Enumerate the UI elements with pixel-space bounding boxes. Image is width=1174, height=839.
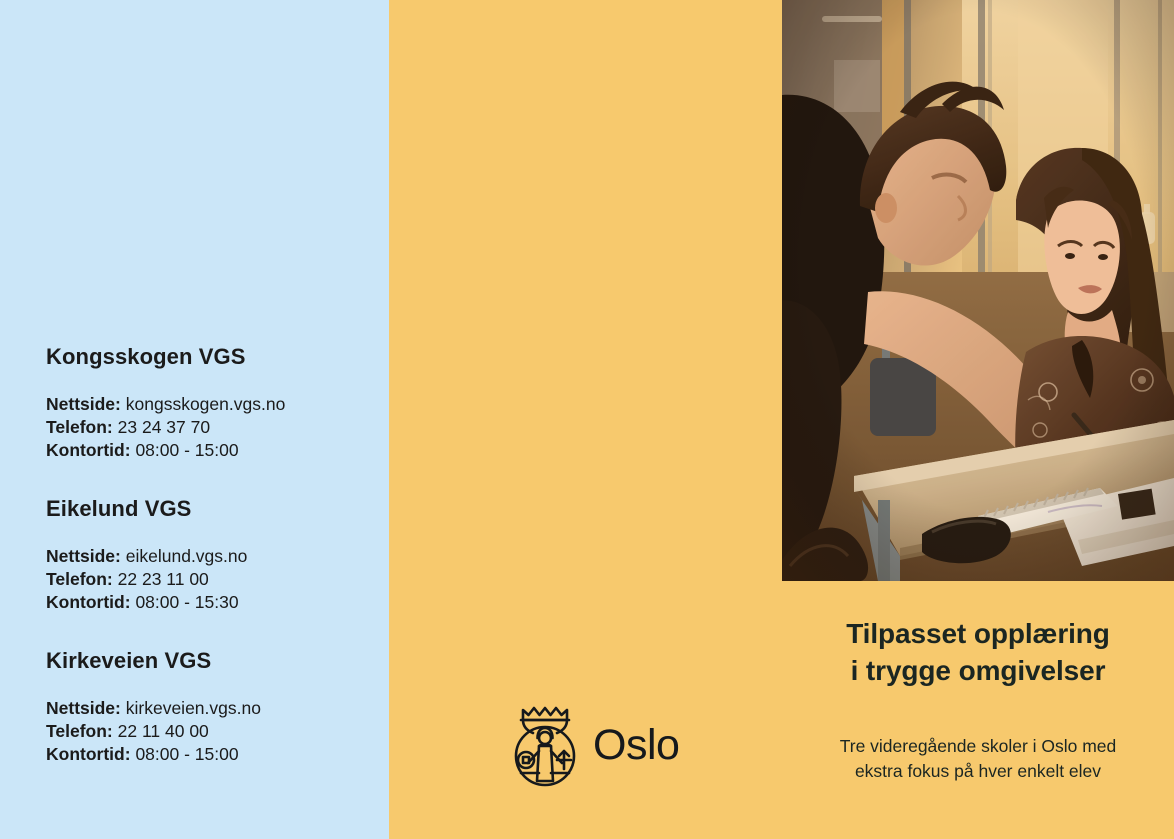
contact-row: Kontortid: 08:00 - 15:00	[46, 743, 376, 766]
contact-value-website[interactable]: eikelund.vgs.no	[126, 546, 248, 566]
contact-value-phone: 22 11 40 00	[118, 721, 209, 741]
contact-value-phone: 22 23 11 00	[118, 569, 209, 589]
contact-label: Nettside:	[46, 546, 121, 566]
contact-label: Nettside:	[46, 394, 121, 414]
contact-label: Telefon:	[46, 569, 113, 589]
contact-label: Kontortid:	[46, 592, 131, 612]
contact-label: Kontortid:	[46, 744, 131, 764]
cover-photo	[782, 0, 1174, 581]
contact-value-hours: 08:00 - 15:00	[135, 744, 238, 764]
contact-panel: Kongsskogen VGS Nettside: kongsskogen.vg…	[0, 0, 389, 839]
contact-value-phone: 23 24 37 70	[118, 417, 210, 437]
oslo-logo: Oslo	[506, 701, 679, 793]
oslo-coat-of-arms-icon	[506, 701, 580, 793]
school-contact-block: Eikelund VGS Nettside: eikelund.vgs.no T…	[46, 497, 376, 614]
contact-value-hours: 08:00 - 15:30	[135, 592, 238, 612]
contact-row: Nettside: eikelund.vgs.no	[46, 545, 376, 568]
school-contact-list: Kongsskogen VGS Nettside: kongsskogen.vg…	[46, 345, 376, 766]
contact-value-website[interactable]: kongsskogen.vgs.no	[126, 394, 286, 414]
contact-value-website[interactable]: kirkeveien.vgs.no	[126, 698, 261, 718]
school-name: Kirkeveien VGS	[46, 649, 376, 673]
promo-headline: Tilpasset opplæring i trygge omgivelser	[782, 615, 1174, 689]
school-contact-block: Kirkeveien VGS Nettside: kirkeveien.vgs.…	[46, 649, 376, 766]
contact-label: Kontortid:	[46, 440, 131, 460]
headline-line-1: Tilpasset opplæring	[782, 615, 1174, 652]
contact-value-hours: 08:00 - 15:00	[135, 440, 238, 460]
promo-tagline: Tre videregående skoler i Oslo med ekstr…	[794, 734, 1162, 784]
headline-line-2: i trygge omgivelser	[782, 652, 1174, 689]
brochure-page: Kongsskogen VGS Nettside: kongsskogen.vg…	[0, 0, 1174, 839]
contact-row: Telefon: 22 23 11 00	[46, 568, 376, 591]
contact-label: Telefon:	[46, 721, 113, 741]
contact-row: Kontortid: 08:00 - 15:30	[46, 591, 376, 614]
contact-row: Telefon: 23 24 37 70	[46, 416, 376, 439]
school-name: Eikelund VGS	[46, 497, 376, 521]
contact-row: Telefon: 22 11 40 00	[46, 720, 376, 743]
tagline-line-1: Tre videregående skoler i Oslo med	[794, 734, 1162, 759]
oslo-wordmark: Oslo	[593, 724, 679, 771]
contact-row: Kontortid: 08:00 - 15:00	[46, 439, 376, 462]
contact-row: Nettside: kirkeveien.vgs.no	[46, 697, 376, 720]
contact-row: Nettside: kongsskogen.vgs.no	[46, 393, 376, 416]
school-name: Kongsskogen VGS	[46, 345, 376, 369]
tagline-line-2: ekstra fokus på hver enkelt elev	[794, 759, 1162, 784]
contact-label: Telefon:	[46, 417, 113, 437]
contact-label: Nettside:	[46, 698, 121, 718]
school-contact-block: Kongsskogen VGS Nettside: kongsskogen.vg…	[46, 345, 376, 462]
